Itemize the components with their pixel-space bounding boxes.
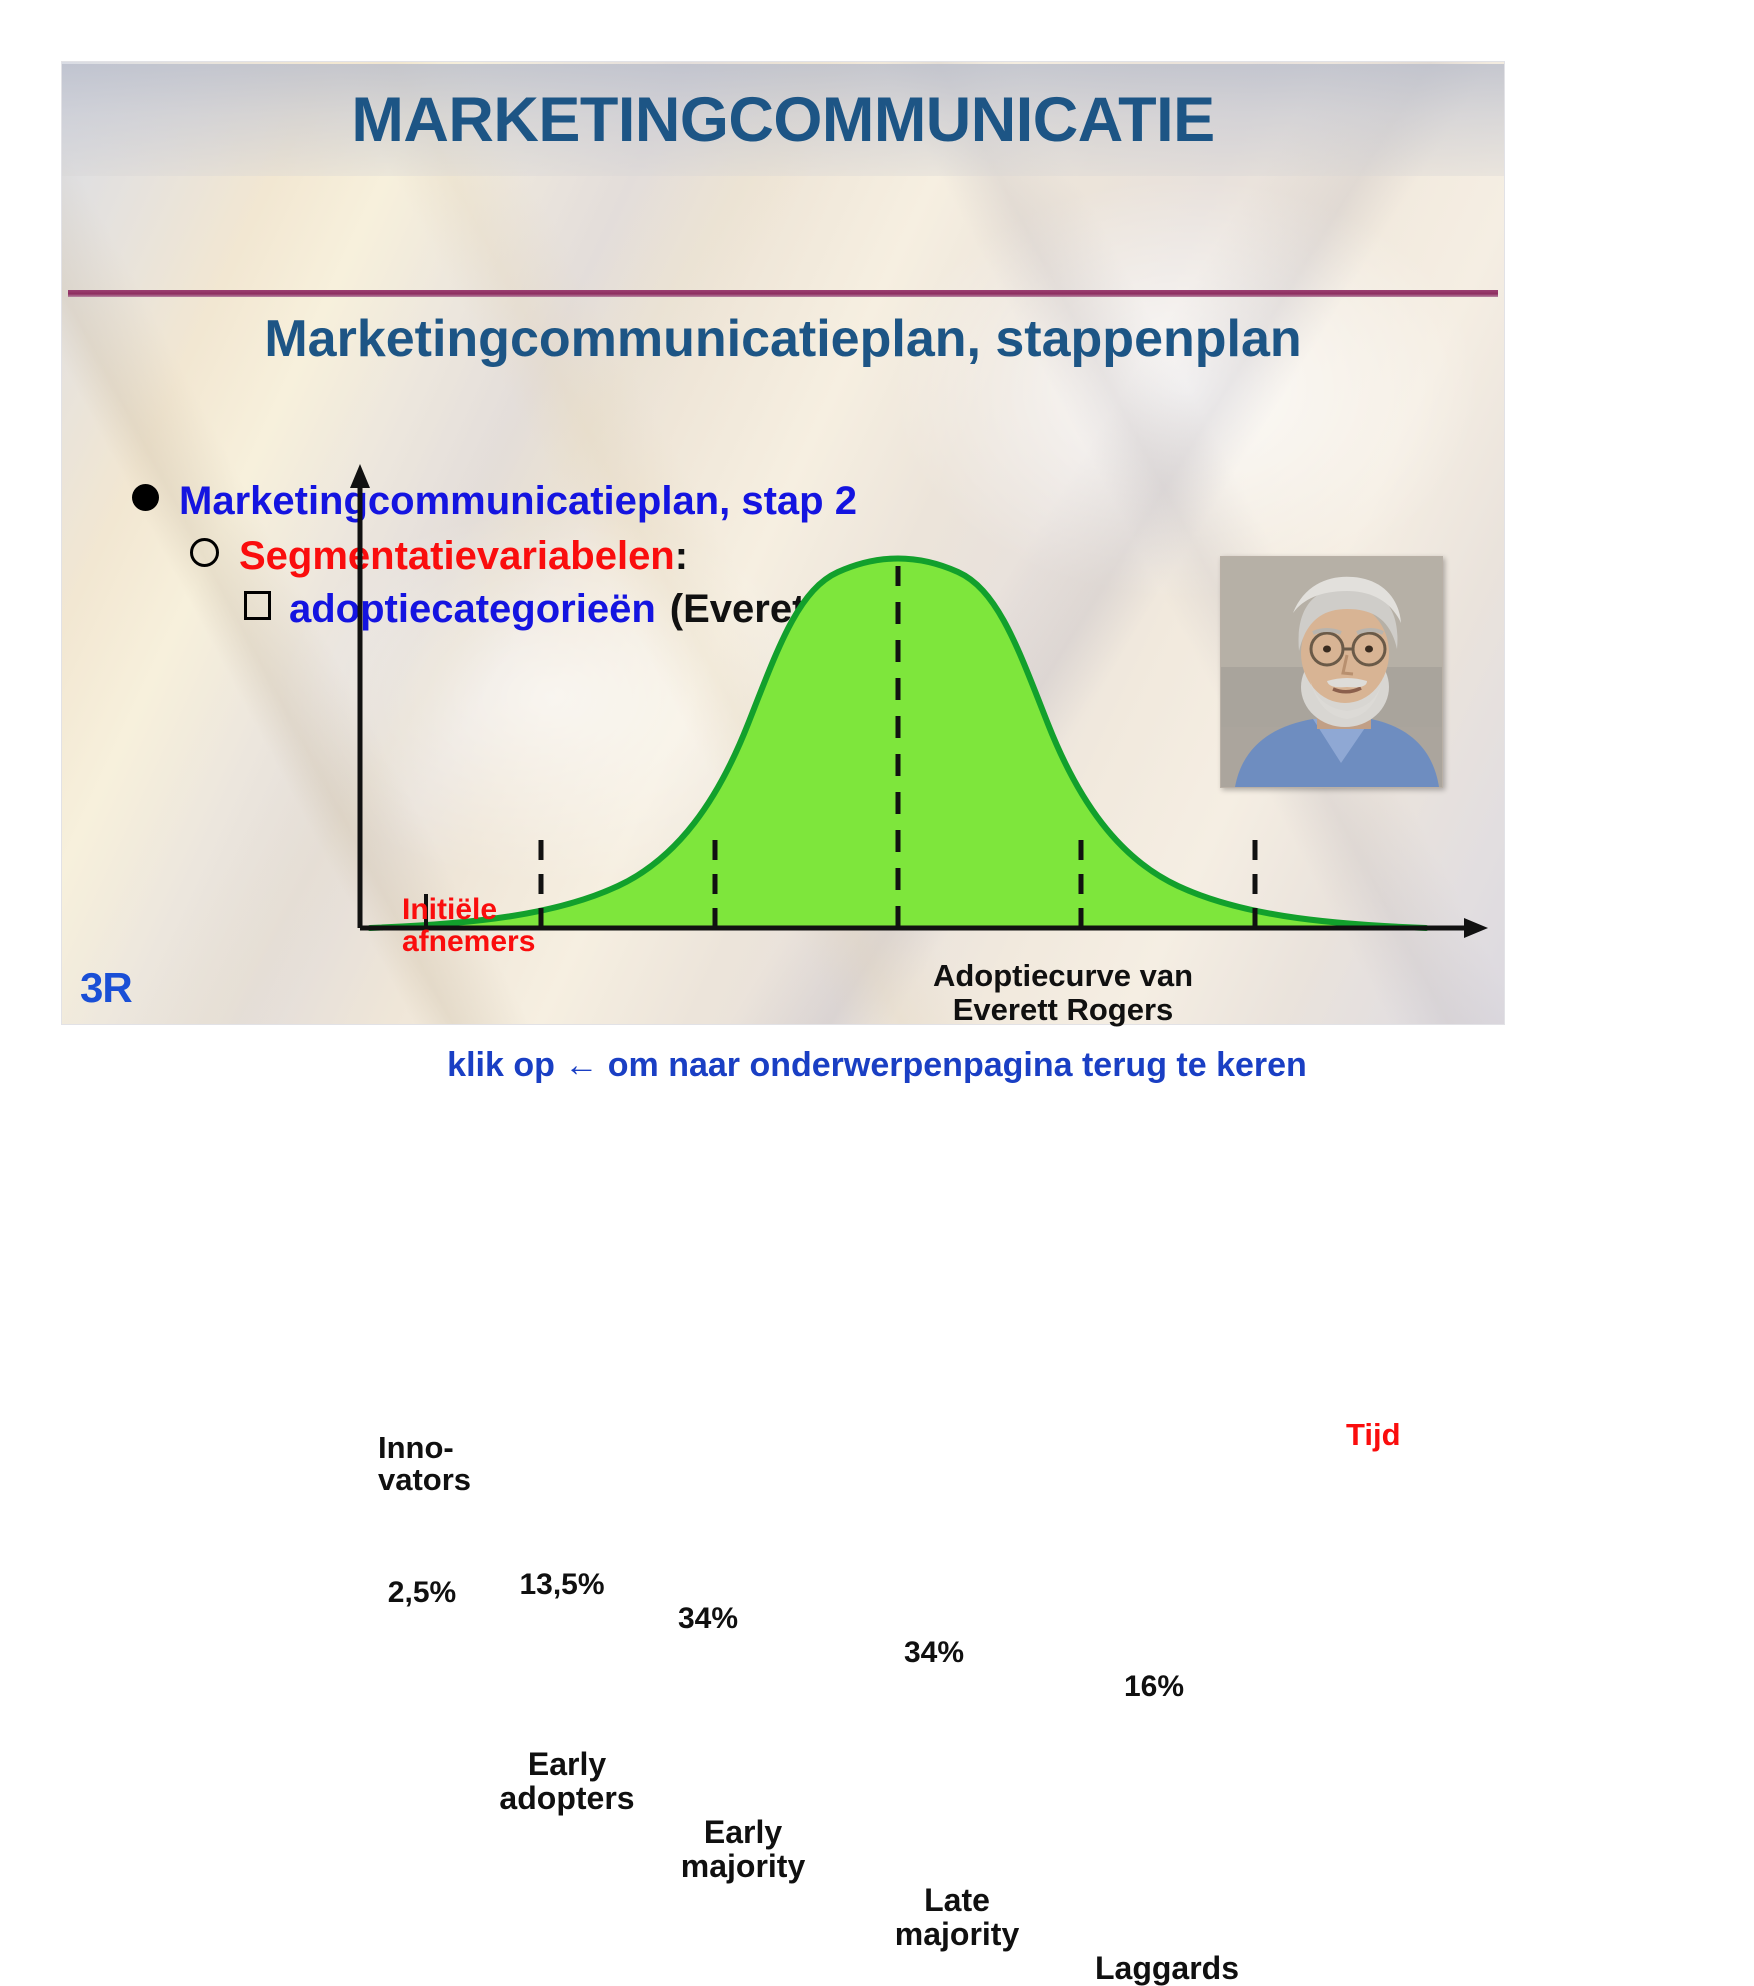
page-subtitle: Marketingcommunicatieplan, stappenplan bbox=[62, 309, 1504, 369]
slide: MARKETINGCOMMUNICATIE Marketingcommunica… bbox=[62, 62, 1504, 1024]
value-label-late-majority: 34% bbox=[874, 1636, 994, 1670]
category-label-early-adopters: Early adopters bbox=[472, 1748, 662, 1816]
category-label-innovators-line1: Inno- bbox=[378, 1432, 1754, 1464]
value-label-innovators: 2,5% bbox=[362, 1576, 482, 1610]
category-label-early-majority-line1: Early bbox=[648, 1816, 838, 1850]
logo-3r: 3R bbox=[80, 964, 132, 1012]
category-label-late-majority-line2: majority bbox=[862, 1918, 1052, 1952]
category-label-early-majority-line2: majority bbox=[648, 1850, 838, 1884]
y-axis-label: Initiële afnemers bbox=[402, 894, 1754, 959]
filled-disc-icon bbox=[132, 484, 159, 511]
chart-title: Adoptiecurve van Everett Rogers bbox=[913, 959, 1213, 1027]
footer-hint: klik op ← om naar onderwerpenpagina teru… bbox=[0, 1046, 1754, 1085]
portrait-everett-rogers bbox=[1220, 556, 1443, 788]
chart-title-line1: Adoptiecurve van bbox=[913, 959, 1213, 993]
y-axis-label-line1: Initiële bbox=[402, 894, 1754, 926]
open-square-icon bbox=[244, 591, 271, 620]
category-label-late-majority-line1: Late bbox=[862, 1884, 1052, 1918]
category-label-innovators: Inno- vators bbox=[378, 1432, 1754, 1495]
title-band: MARKETINGCOMMUNICATIE bbox=[62, 64, 1504, 176]
category-label-late-majority: Late majority bbox=[862, 1884, 1052, 1952]
category-label-early-adopters-line1: Early bbox=[472, 1748, 662, 1782]
value-label-laggards: 16% bbox=[1094, 1670, 1214, 1704]
page-title: MARKETINGCOMMUNICATIE bbox=[351, 84, 1214, 156]
category-label-early-adopters-line2: adopters bbox=[472, 1782, 662, 1816]
category-label-innovators-line2: vators bbox=[378, 1464, 1754, 1496]
category-label-laggards: Laggards bbox=[1062, 1952, 1272, 1986]
y-axis-label-line2: afnemers bbox=[402, 926, 1754, 958]
category-label-early-majority: Early majority bbox=[648, 1816, 838, 1884]
y-axis-arrow-icon bbox=[350, 464, 370, 488]
logo-3r-text: 3R bbox=[80, 964, 132, 1011]
open-circle-icon bbox=[190, 538, 219, 567]
title-divider bbox=[68, 290, 1498, 297]
category-label-laggards-line1: Laggards bbox=[1062, 1952, 1272, 1986]
value-label-early-adopters: 13,5% bbox=[492, 1568, 632, 1602]
chart-title-line2: Everett Rogers bbox=[913, 993, 1213, 1027]
value-label-early-majority: 34% bbox=[648, 1602, 768, 1636]
